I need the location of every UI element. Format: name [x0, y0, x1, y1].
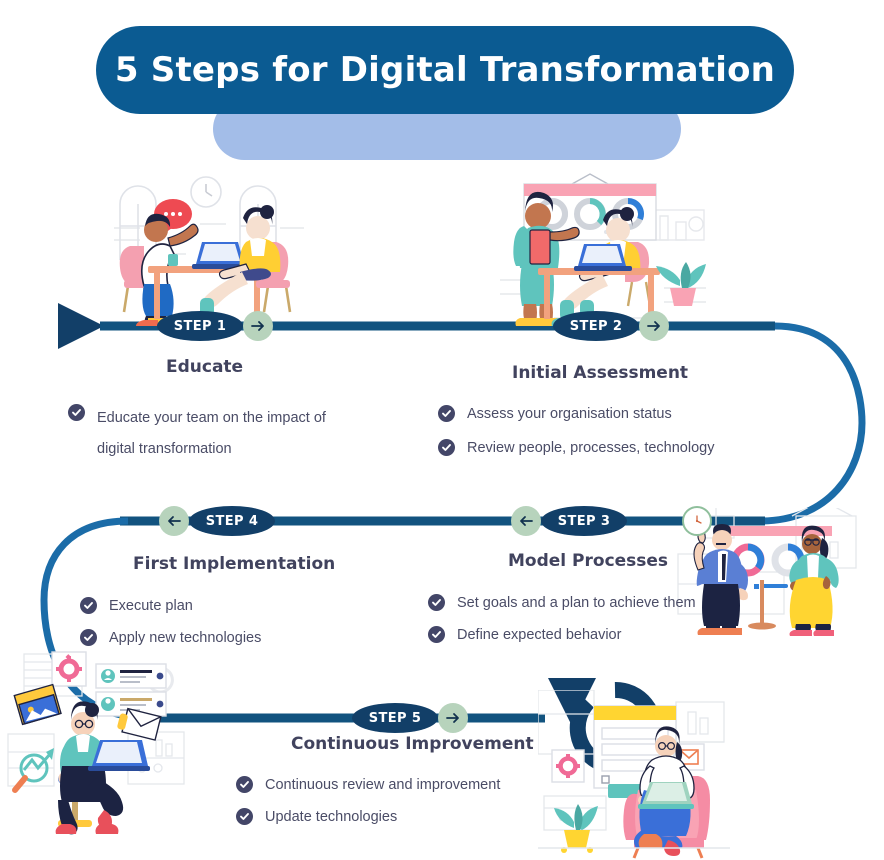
- list-item-text: Define expected behavior: [457, 625, 621, 645]
- step-title-2: Initial Assessment: [512, 363, 688, 383]
- step-title-1: Educate: [166, 357, 243, 377]
- check-circle-icon: [236, 808, 253, 825]
- step-title-3: Model Processes: [508, 551, 668, 571]
- check-circle-icon: [438, 439, 455, 456]
- list-item: Review people, processes, technology: [438, 438, 768, 458]
- list-item: Continuous review and improvement: [236, 775, 576, 795]
- list-item: Execute plan: [80, 596, 380, 616]
- step-badge-3-label: STEP 3: [541, 506, 627, 536]
- step-bullets-2: Assess your organisation status Review p…: [438, 404, 768, 466]
- presentation-charts-board-illustration: [494, 168, 712, 328]
- page-title: 5 Steps for Digital Transformation: [115, 50, 775, 90]
- check-circle-icon: [438, 405, 455, 422]
- woman-stool-laptop-floating-cards-illustration: [0, 648, 198, 860]
- clock-icon: [682, 506, 712, 536]
- list-item-text: Assess your organisation status: [467, 404, 672, 424]
- list-item: Apply new technologies: [80, 628, 380, 648]
- header: 5 Steps for Digital Transformation: [0, 26, 884, 146]
- check-circle-icon: [428, 626, 445, 643]
- list-item-text: Apply new technologies: [109, 628, 261, 648]
- check-circle-icon: [68, 404, 85, 421]
- list-item: Assess your organisation status: [438, 404, 768, 424]
- step-badge-4-label: STEP 4: [189, 506, 275, 536]
- list-item-text: Continuous review and improvement: [265, 775, 500, 795]
- meeting-two-people-laptop-illustration: [100, 168, 316, 328]
- list-item: Educate your team on the impact of digit…: [68, 403, 368, 465]
- list-item-text: Review people, processes, technology: [467, 438, 714, 458]
- step-badge-2[interactable]: STEP 2: [553, 311, 669, 341]
- step-badge-3[interactable]: STEP 3: [511, 506, 627, 536]
- check-circle-icon: [80, 629, 97, 646]
- step-badge-1[interactable]: STEP 1: [157, 311, 273, 341]
- list-item-text: Update technologies: [265, 807, 397, 827]
- list-item: Update technologies: [236, 807, 576, 827]
- step-title-5: Continuous Improvement: [291, 734, 534, 754]
- arrow-left-icon-3[interactable]: [511, 506, 541, 536]
- arrow-right-icon-2[interactable]: [639, 311, 669, 341]
- step-title-4: First Implementation: [133, 554, 335, 574]
- step-bullets-3: Set goals and a plan to achieve them Def…: [428, 593, 768, 653]
- list-item: Define expected behavior: [428, 625, 768, 645]
- arrow-left-icon-4[interactable]: [159, 506, 189, 536]
- flow-curve-right: [760, 326, 862, 521]
- step-bullets-1: Educate your team on the impact of digit…: [68, 403, 368, 473]
- list-item-text: Educate your team on the impact of digit…: [97, 403, 337, 465]
- arrow-right-icon-1[interactable]: [243, 311, 273, 341]
- step-badge-5[interactable]: STEP 5: [352, 703, 468, 733]
- arrow-right-icon-5[interactable]: [438, 703, 468, 733]
- check-circle-icon: [80, 597, 97, 614]
- step-bullets-5: Continuous review and improvement Update…: [236, 775, 576, 835]
- step-badge-1-label: STEP 1: [157, 311, 243, 341]
- step-bullets-4: Execute plan Apply new technologies: [80, 596, 380, 656]
- step-badge-2-label: STEP 2: [553, 311, 639, 341]
- list-item: Set goals and a plan to achieve them: [428, 593, 768, 613]
- check-circle-icon: [236, 776, 253, 793]
- title-pill: 5 Steps for Digital Transformation: [96, 26, 794, 114]
- list-item-text: Execute plan: [109, 596, 193, 616]
- triangle-start-marker: [58, 303, 104, 349]
- list-item-text: Set goals and a plan to achieve them: [457, 593, 696, 613]
- step-badge-5-label: STEP 5: [352, 703, 438, 733]
- check-circle-icon: [428, 594, 445, 611]
- step-badge-4[interactable]: STEP 4: [159, 506, 275, 536]
